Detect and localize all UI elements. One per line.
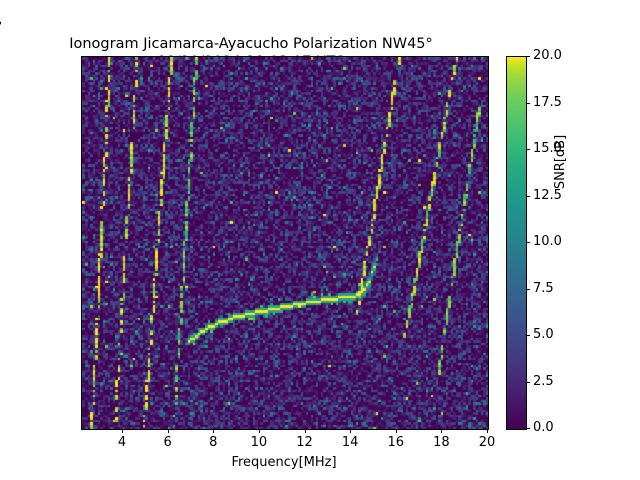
- colorbar-tick-label: 2.5: [533, 374, 603, 389]
- x-tick-mark: [122, 429, 123, 433]
- x-tick-mark: [259, 429, 260, 433]
- colorbar-tick-mark: [526, 103, 530, 104]
- colorbar-tick-mark: [526, 196, 530, 197]
- colorbar: [506, 56, 527, 430]
- colorbar-tick-mark: [526, 335, 530, 336]
- colorbar-label: SNR[dB]: [553, 82, 568, 242]
- colorbar-tick-label: 7.5: [533, 281, 603, 296]
- colorbar-tick-mark: [526, 56, 530, 57]
- ionogram-figure: Ionogram Jicamarca-Ayacucho Polarization…: [0, 0, 640, 480]
- colorbar-tick-label: 17.5: [533, 95, 603, 110]
- x-tick-mark: [396, 429, 397, 433]
- colorbar-tick-mark: [526, 242, 530, 243]
- colorbar-tick-mark: [526, 289, 530, 290]
- colorbar-tick-label: 5.0: [533, 327, 603, 342]
- x-tick-mark: [168, 429, 169, 433]
- x-tick-mark: [213, 429, 214, 433]
- title-line-1: Ionogram Jicamarca-Ayacucho Polarization…: [69, 36, 433, 52]
- ionogram-heatmap: [82, 57, 488, 429]
- colorbar-tick-mark: [526, 428, 530, 429]
- x-axis-label: Frequency[MHz]: [81, 455, 487, 470]
- colorbar-tick-label: 20.0: [533, 48, 603, 63]
- colorbar-tick-mark: [526, 149, 530, 150]
- plot-area: [81, 56, 489, 430]
- x-tick-mark: [487, 429, 488, 433]
- colorbar-tick-label: 10.0: [533, 234, 603, 249]
- x-tick-mark: [305, 429, 306, 433]
- colorbar-tick-label: 12.5: [533, 188, 603, 203]
- colorbar-tick-mark: [526, 382, 530, 383]
- y-axis-label: Virtual Distance[km]: [0, 0, 3, 177]
- x-tick-mark: [350, 429, 351, 433]
- colorbar-tick-label: 15.0: [533, 141, 603, 156]
- x-tick-mark: [441, 429, 442, 433]
- colorbar-tick-label: 0.0: [533, 420, 603, 435]
- x-tick-label: 20: [457, 435, 517, 450]
